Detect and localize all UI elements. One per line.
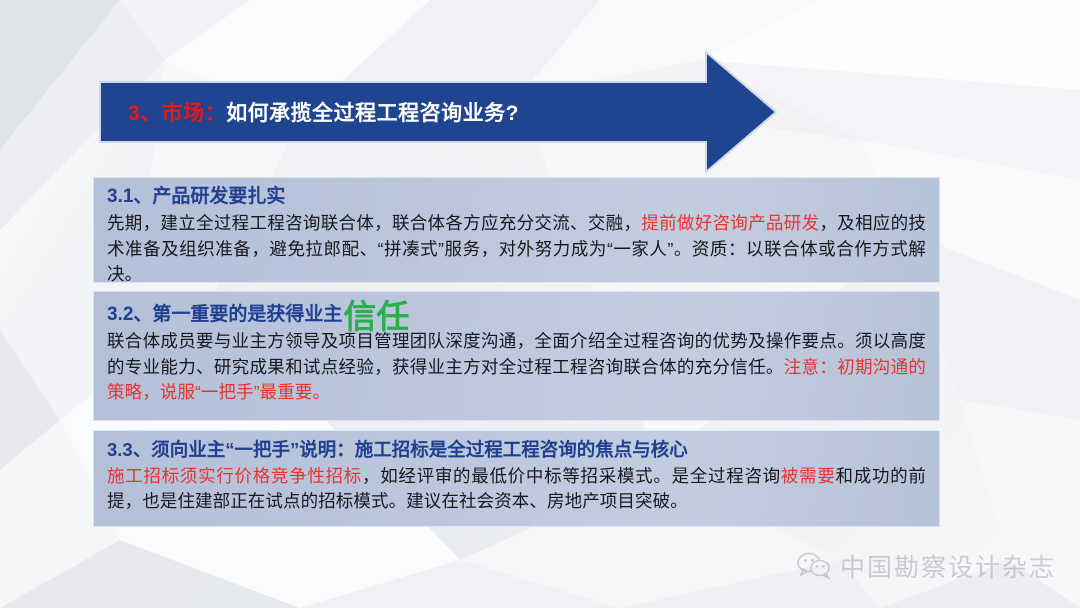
watermark: 中国勘察设计杂志 bbox=[797, 548, 1056, 584]
watermark-text: 中国勘察设计杂志 bbox=[840, 548, 1056, 584]
header-section-number: 3、市场： bbox=[128, 97, 226, 127]
panel-heading-text: 3.3、须向业主“一把手”说明：施工招标是全过程工程咨询的焦点与核心 bbox=[107, 437, 688, 463]
body-run: 先期，建立全过程工程咨询联合体，联合体各方应充分交流、交融， bbox=[107, 213, 641, 233]
header-title: 3、市场： 如何承揽全过程工程咨询业务? bbox=[128, 90, 708, 134]
body-run-highlight: 提前做好咨询产品研发 bbox=[641, 213, 819, 233]
panel-heading-3-2: 3.2、第一重要的是获得业主信任 bbox=[107, 298, 926, 328]
panel-body-3-2: 联合体成员要与业主方领导及项目管理团队深度沟通，全面介绍全过程咨询的优势及操作要… bbox=[107, 329, 926, 406]
panel-heading-text: 3.1、产品研发要扎实 bbox=[107, 184, 285, 210]
content-panel-3-2: 3.2、第一重要的是获得业主信任 联合体成员要与业主方领导及项目管理团队深度沟通… bbox=[93, 291, 940, 421]
panel-heading-text: 3.2、第一重要的是获得业主 bbox=[107, 302, 342, 328]
body-run: ，如经评审的最低价中标等招采模式。是全过程咨询 bbox=[362, 466, 781, 486]
panel-body-3-1: 先期，建立全过程工程咨询联合体，联合体各方应充分交流、交融，提前做好咨询产品研发… bbox=[107, 211, 926, 288]
wechat-icon bbox=[797, 552, 831, 580]
content-panel-3-1: 3.1、产品研发要扎实 先期，建立全过程工程咨询联合体，联合体各方应充分交流、交… bbox=[93, 177, 940, 283]
body-run-highlight: 施工招标须实行价格竞争性招标 bbox=[107, 466, 362, 486]
slide-canvas: 3、市场： 如何承揽全过程工程咨询业务? 3.1、产品研发要扎实 先期，建立全过… bbox=[0, 0, 1080, 608]
panel-heading-accent: 信任 bbox=[343, 302, 409, 332]
panel-body-3-3: 施工招标须实行价格竞争性招标，如经评审的最低价中标等招采模式。是全过程咨询被需要… bbox=[107, 464, 926, 514]
panel-heading-3-3: 3.3、须向业主“一把手”说明：施工招标是全过程工程咨询的焦点与核心 bbox=[107, 437, 926, 463]
header-section-title: 如何承揽全过程工程咨询业务? bbox=[226, 97, 519, 127]
content-panel-3-3: 3.3、须向业主“一把手”说明：施工招标是全过程工程咨询的焦点与核心 施工招标须… bbox=[93, 430, 940, 527]
panel-heading-3-1: 3.1、产品研发要扎实 bbox=[107, 184, 926, 210]
body-run-highlight: 被需要 bbox=[781, 466, 836, 486]
